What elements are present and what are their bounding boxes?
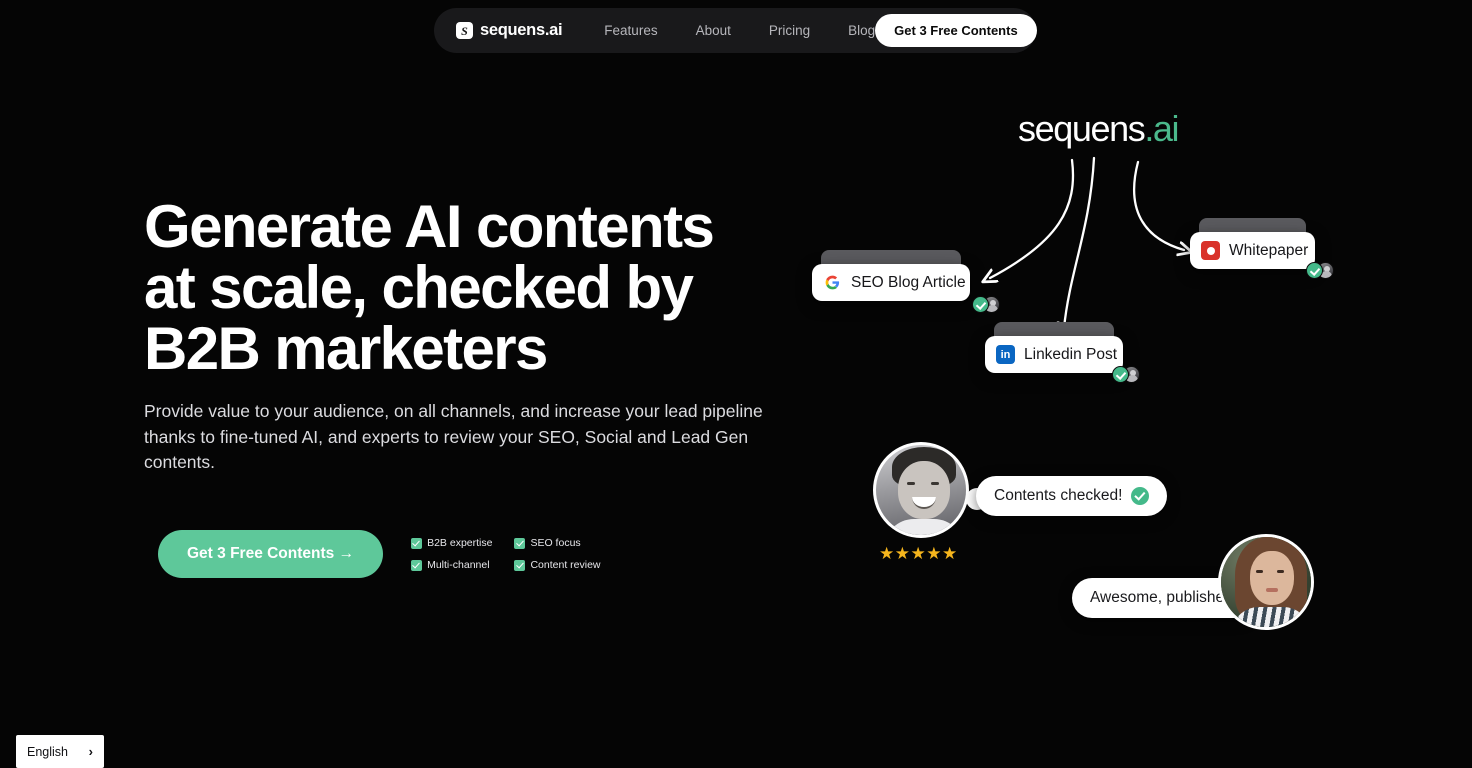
- feature-item-b2b-expertise: B2B expertise: [411, 537, 492, 549]
- content-card-linkedin-post[interactable]: in Linkedin Post: [985, 322, 1123, 373]
- pdf-icon: [1201, 241, 1220, 260]
- brand-logo[interactable]: S sequens.ai: [456, 21, 562, 40]
- feature-item-content-review: Content review: [514, 559, 600, 571]
- illustration-brand-logo: sequens.ai: [1018, 108, 1178, 150]
- hero-get-free-contents-button[interactable]: Get 3 Free Contents →: [158, 530, 383, 578]
- card-label: Whitepaper: [1229, 242, 1308, 260]
- card-status-badges: [972, 296, 1000, 313]
- feature-item-seo-focus: SEO focus: [514, 537, 600, 549]
- linkedin-icon: in: [996, 345, 1015, 364]
- avatar-eye-left: [1256, 570, 1263, 573]
- hero-left-column: Generate AI contents at scale, checked b…: [144, 196, 804, 476]
- avatar-eye-left: [907, 482, 915, 485]
- navbar: S sequens.ai Features About Pricing Blog…: [434, 8, 1036, 53]
- rating-stars: ★★★★★: [879, 544, 969, 564]
- bubble-text: Contents checked!: [994, 487, 1122, 505]
- card-status-badges: [1112, 366, 1140, 383]
- feature-label: Content review: [530, 559, 600, 571]
- reviewer-avatar: [873, 442, 969, 538]
- card-label: Linkedin Post: [1024, 346, 1117, 364]
- content-card-seo-blog-article[interactable]: SEO Blog Article: [812, 250, 970, 301]
- feature-label: B2B expertise: [427, 537, 492, 549]
- hero-cta-row: Get 3 Free Contents → B2B expertise SEO …: [158, 530, 601, 578]
- verified-check-icon: [1112, 366, 1129, 383]
- check-icon: [514, 560, 525, 571]
- brand-name: sequens.ai: [480, 21, 562, 40]
- chevron-right-icon: ›: [89, 744, 93, 759]
- check-icon: [411, 560, 422, 571]
- feature-label: Multi-channel: [427, 559, 489, 571]
- card-status-badges: [1306, 262, 1334, 279]
- card-label: SEO Blog Article: [851, 274, 966, 292]
- hero-feature-list: B2B expertise SEO focus Multi-channel Co…: [411, 537, 600, 571]
- avatar-eye-right: [1277, 570, 1284, 573]
- check-icon: [514, 538, 525, 549]
- hero-subheading: Provide value to your audience, on all c…: [144, 399, 784, 476]
- nav-get-free-contents-button[interactable]: Get 3 Free Contents: [875, 14, 1037, 47]
- content-card-whitepaper[interactable]: Whitepaper: [1190, 218, 1315, 269]
- card-body: in Linkedin Post: [985, 336, 1123, 373]
- check-icon: [411, 538, 422, 549]
- avatar-eye-right: [931, 482, 939, 485]
- google-icon: [823, 273, 842, 292]
- publisher-avatar: [1218, 534, 1314, 630]
- reviewer-block: ★★★★★: [873, 442, 969, 564]
- verified-check-icon: [1131, 487, 1149, 505]
- nav-link-blog[interactable]: Blog: [848, 23, 875, 38]
- feature-item-multi-channel: Multi-channel: [411, 559, 492, 571]
- card-body: SEO Blog Article: [812, 264, 970, 301]
- avatar-face: [1250, 551, 1294, 605]
- nav-link-about[interactable]: About: [696, 23, 731, 38]
- hero-illustration: sequens.ai: [790, 90, 1370, 690]
- bubble-contents-checked: Contents checked!: [976, 476, 1167, 516]
- avatar-face: [898, 461, 950, 519]
- brand-logo-green-text: .ai: [1144, 108, 1178, 149]
- verified-check-icon: [972, 296, 989, 313]
- feature-label: SEO focus: [530, 537, 580, 549]
- nav-link-pricing[interactable]: Pricing: [769, 23, 810, 38]
- avatar-lips: [1266, 588, 1278, 592]
- page-root: S sequens.ai Features About Pricing Blog…: [0, 0, 1472, 768]
- brand-logo-white-text: sequens: [1018, 108, 1144, 149]
- nav-links: Features About Pricing Blog: [604, 23, 875, 38]
- verified-check-icon: [1306, 262, 1323, 279]
- sequens-logo-icon: S: [456, 22, 473, 39]
- bubble-text: Awesome, published!: [1090, 589, 1237, 607]
- language-switcher[interactable]: English ›: [16, 735, 104, 768]
- nav-link-features[interactable]: Features: [604, 23, 657, 38]
- card-body: Whitepaper: [1190, 232, 1315, 269]
- language-switcher-label: English: [27, 745, 68, 759]
- avatar-body: [884, 519, 964, 538]
- page-title: Generate AI contents at scale, checked b…: [144, 196, 804, 379]
